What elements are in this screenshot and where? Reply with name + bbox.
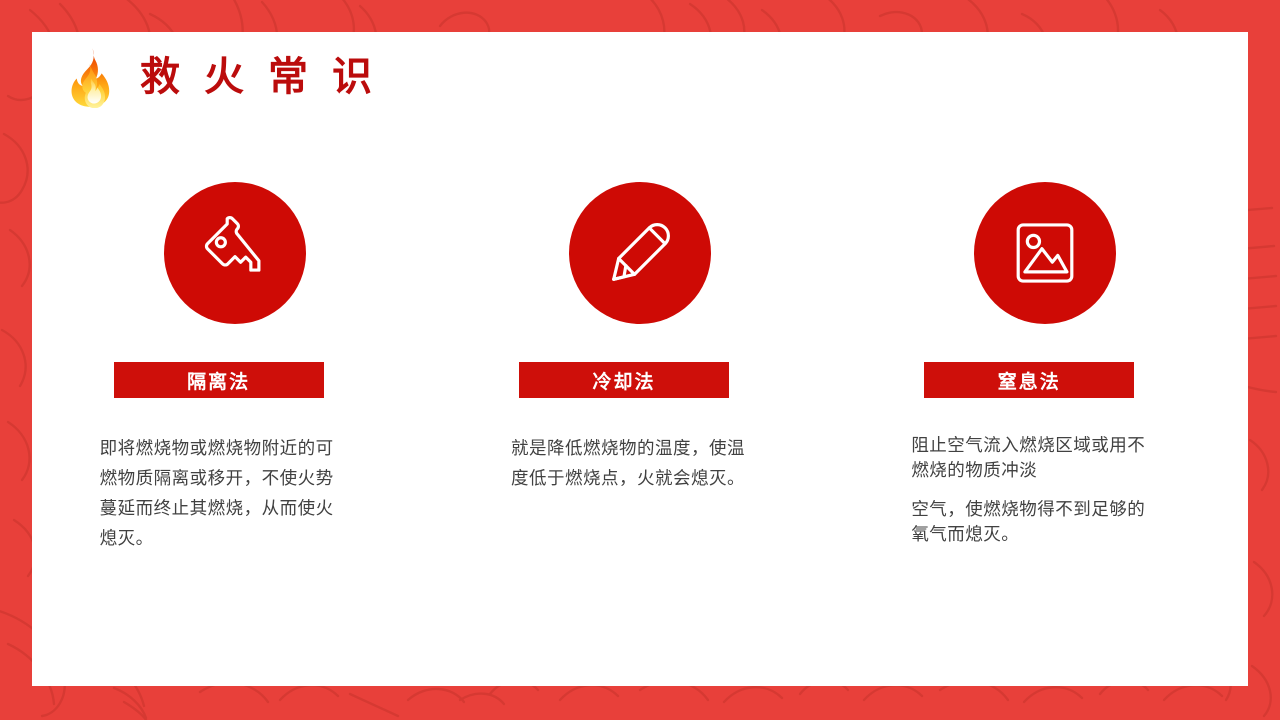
pencil-icon [601,214,679,292]
paragraph: 就是降低燃烧物的温度，使温度低于燃烧点，火就会熄灭。 [511,434,749,494]
methods-columns: 隔离法 即将燃烧物或燃烧物附近的可燃物质隔离或移开，不使火势蔓延而终止其燃烧，从… [32,182,1248,554]
icon-circle-isolation[interactable] [164,182,306,324]
flame-icon [60,46,122,108]
icon-circle-cooling[interactable] [569,182,711,324]
method-column-cooling: 冷却法 就是降低燃烧物的温度，使温度低于燃烧点，火就会熄灭。 [437,182,842,554]
icon-circle-suffocation[interactable] [974,182,1116,324]
slide-root: 救火常识 隔离法 即将燃烧物或燃烧物附近的可燃物质隔离或移开，不使火势蔓延而终止… [0,0,1280,720]
method-description-suffocation: 阻止空气流入燃烧区域或用不燃烧的物质冲淡 空气，使燃烧物得不到足够的氧气而熄灭。 [911,434,1159,547]
page-title: 救火常识 [140,57,396,97]
method-column-suffocation: 窒息法 阻止空气流入燃烧区域或用不燃烧的物质冲淡 空气，使燃烧物得不到足够的氧气… [843,182,1248,554]
paragraph: 阻止空气流入燃烧区域或用不燃烧的物质冲淡 [911,434,1159,484]
key-icon [196,214,274,292]
content-card: 救火常识 隔离法 即将燃烧物或燃烧物附近的可燃物质隔离或移开，不使火势蔓延而终止… [32,32,1248,686]
method-label-cooling: 冷却法 [519,362,729,398]
paragraph: 空气，使燃烧物得不到足够的氧气而熄灭。 [911,498,1159,548]
image-icon [1006,214,1084,292]
slide-header: 救火常识 [60,46,396,108]
method-label-isolation: 隔离法 [114,362,324,398]
paragraph: 即将燃烧物或燃烧物附近的可燃物质隔离或移开，不使火势蔓延而终止其燃烧，从而使火熄… [100,434,346,554]
method-column-isolation: 隔离法 即将燃烧物或燃烧物附近的可燃物质隔离或移开，不使火势蔓延而终止其燃烧，从… [32,182,437,554]
method-description-isolation: 即将燃烧物或燃烧物附近的可燃物质隔离或移开，不使火势蔓延而终止其燃烧，从而使火熄… [100,434,346,554]
method-label-suffocation: 窒息法 [924,362,1134,398]
method-description-cooling: 就是降低燃烧物的温度，使温度低于燃烧点，火就会熄灭。 [511,434,749,494]
